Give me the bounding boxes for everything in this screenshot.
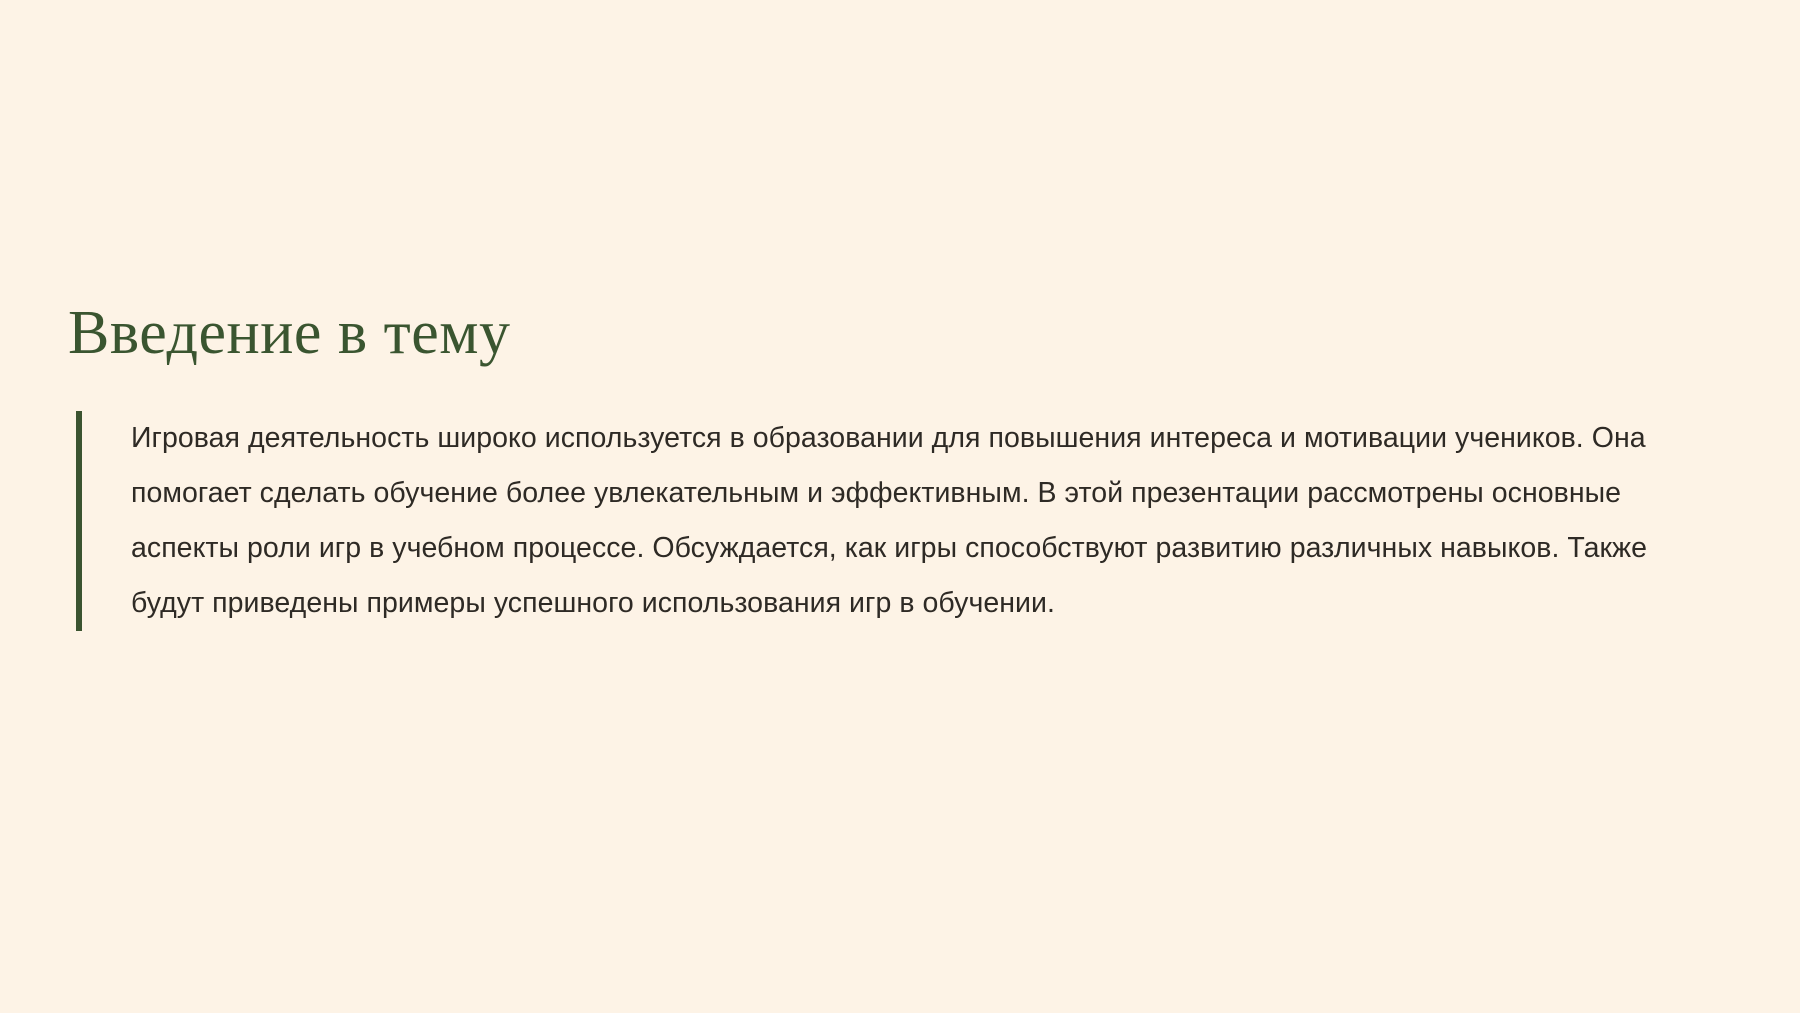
quote-block: Игровая деятельность широко используется… <box>76 411 1728 631</box>
page-title: Введение в тему <box>68 300 1728 367</box>
body-paragraph: Игровая деятельность широко используется… <box>82 411 1706 631</box>
slide-canvas: Введение в тему Игровая деятельность шир… <box>0 0 1800 1013</box>
slide-content: Введение в тему Игровая деятельность шир… <box>68 300 1728 631</box>
